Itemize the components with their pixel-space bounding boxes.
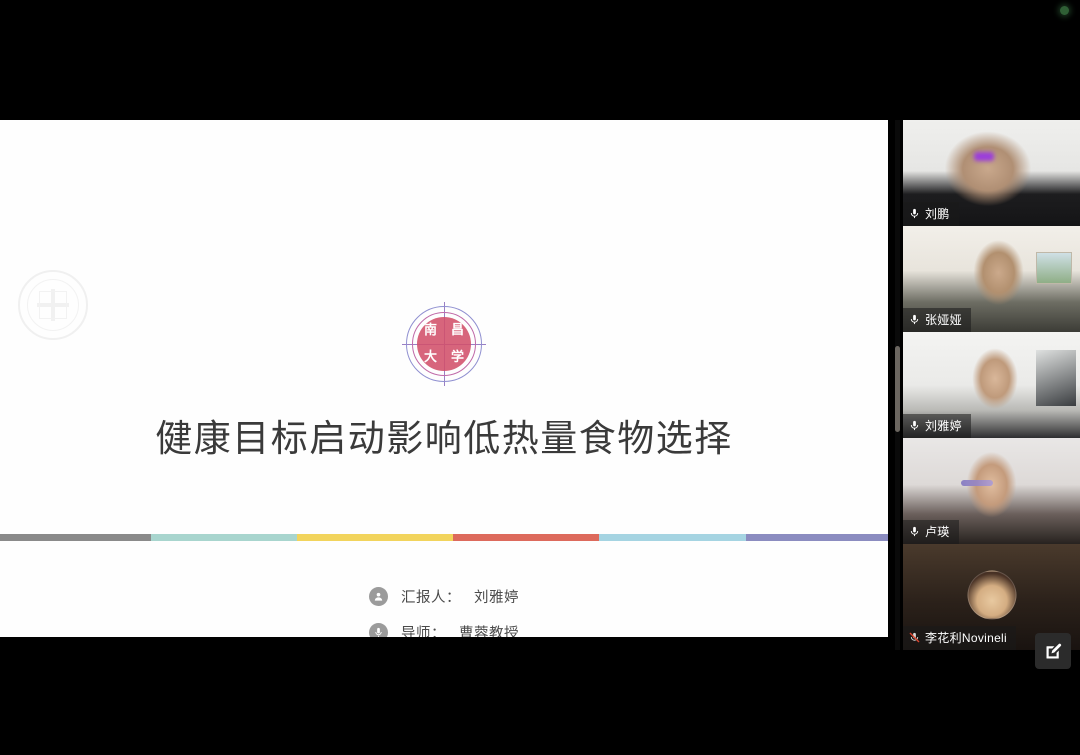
mic-icon (909, 526, 920, 537)
participant-name: 刘鹏 (925, 205, 950, 222)
participant-name: 张娅娅 (925, 311, 962, 328)
divider-segment (0, 534, 151, 541)
avatar (967, 571, 1016, 620)
meta-value-advisor: 曹蓉教授 (459, 622, 519, 637)
seal-char: 南 (424, 324, 437, 337)
slide-meta-list: 汇报人： 刘雅婷 导师： 曹蓉教授 时间： 2023.4 (0, 586, 888, 637)
participant-name-tag: 刘鹏 (903, 202, 959, 226)
participant-tile[interactable]: 刘鹏 (903, 120, 1080, 226)
video-rail-scrollbar-thumb[interactable] (895, 346, 900, 432)
meta-value-presenter: 刘雅婷 (474, 586, 519, 607)
slide-title: 健康目标启动影响低热量食物选择 (0, 408, 888, 462)
teacher-icon (369, 623, 388, 637)
divider-segment (599, 534, 746, 541)
shared-slide[interactable]: 南 昌 大 学 健康目标启动影响低热量食物选择 汇报人： 刘雅婷 (0, 120, 888, 637)
participant-name-tag: 李花利Novineli (903, 626, 1016, 650)
meeting-screen-share: 南 昌 大 学 健康目标启动影响低热量食物选择 汇报人： 刘雅婷 (0, 0, 1080, 755)
divider-segment (746, 534, 888, 541)
meta-label-presenter: 汇报人： (401, 586, 461, 607)
person-icon (369, 587, 388, 606)
participant-tile[interactable]: 张娅娅 (903, 226, 1080, 332)
participant-name: 李花利Novineli (925, 629, 1007, 646)
participant-tile[interactable]: 卢瑛 (903, 438, 1080, 544)
university-watermark-icon (18, 270, 88, 340)
divider-segment (297, 534, 452, 541)
seal-char: 大 (424, 351, 437, 364)
seal-char: 昌 (451, 324, 464, 337)
mic-icon (909, 420, 920, 431)
participant-name-tag: 张娅娅 (903, 308, 971, 332)
seal-char: 学 (451, 351, 464, 364)
university-seal-logo-icon: 南 昌 大 学 (406, 306, 482, 382)
participant-name: 卢瑛 (925, 523, 950, 540)
participant-name: 刘雅婷 (925, 417, 962, 434)
meta-label-advisor: 导师： (401, 622, 446, 637)
participant-name-tag: 卢瑛 (903, 520, 959, 544)
meta-row-presenter: 汇报人： 刘雅婷 (369, 586, 519, 607)
participant-name-tag: 刘雅婷 (903, 414, 971, 438)
color-divider (0, 534, 888, 541)
mic-muted-icon (909, 632, 920, 643)
meta-row-advisor: 导师： 曹蓉教授 (369, 622, 519, 637)
annotate-button[interactable] (1035, 633, 1071, 669)
recording-status-dot (1060, 6, 1069, 15)
mic-icon (909, 314, 920, 325)
divider-segment (453, 534, 600, 541)
participant-tile-active-speaker[interactable]: 刘雅婷 (903, 332, 1080, 438)
pencil-square-icon (1043, 641, 1064, 662)
mic-icon (909, 208, 920, 219)
divider-segment (151, 534, 298, 541)
participant-video-rail: 刘鹏 张娅娅 刘雅婷 (903, 120, 1080, 650)
